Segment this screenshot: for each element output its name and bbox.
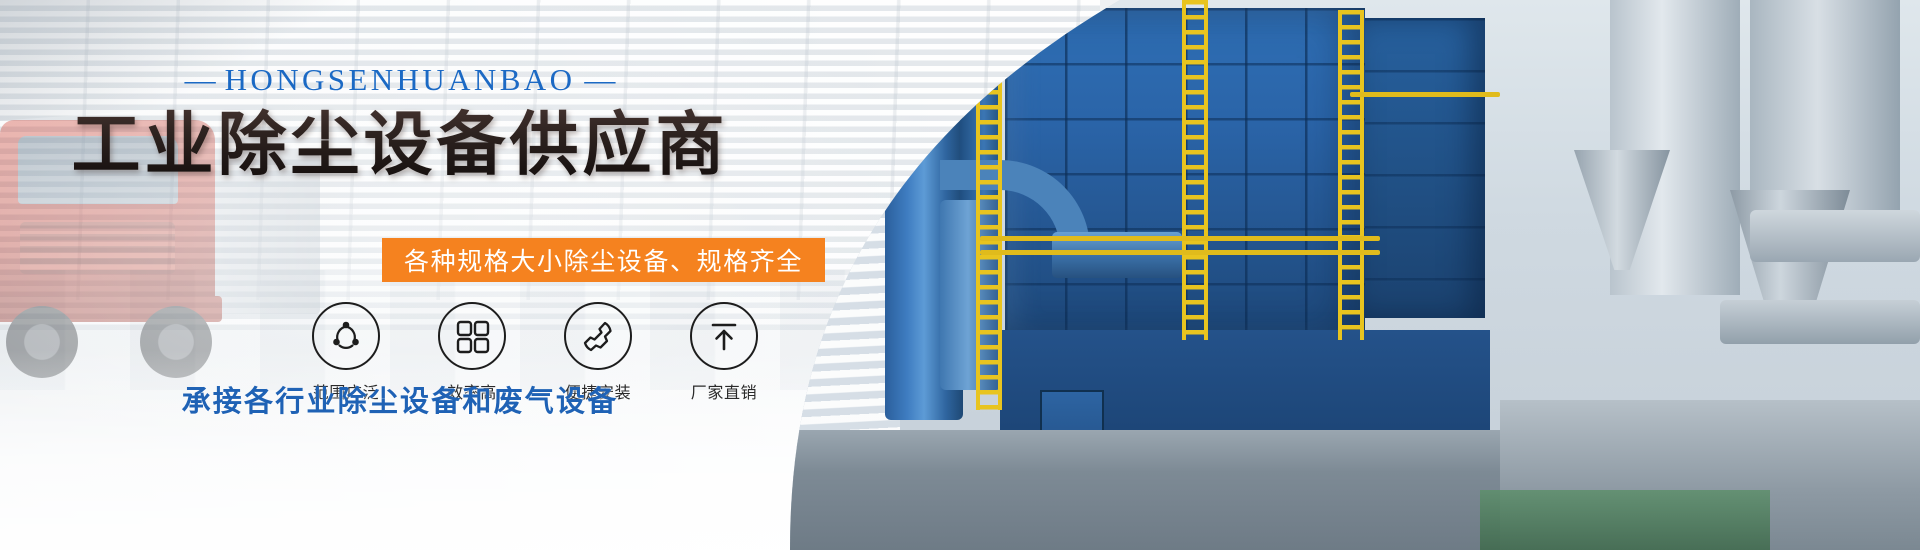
subtitle-text: 各种规格大小除尘设备、规格齐全: [404, 242, 803, 278]
brand-pinyin-eyebrow: —HONGSENHUANBAO—: [0, 62, 800, 98]
tagline: 承接各行业除尘设备和废气设备: [0, 378, 800, 420]
yellow-handrail-1: [980, 236, 1380, 241]
grey-duct-lower: [1720, 300, 1920, 344]
yellow-ladder-2: [1182, 0, 1208, 340]
brand-pinyin-text: HONGSENHUANBAO: [225, 62, 576, 97]
hero-banner: —HONGSENHUANBAO— 工业除尘设备供应商 各种规格大小除尘设备、规格…: [0, 0, 1920, 550]
yellow-ladder-3: [1338, 10, 1364, 340]
grid-squares-icon: [438, 302, 506, 370]
subtitle-orange-bar: 各种规格大小除尘设备、规格齐全: [382, 238, 825, 282]
wrench-icon: [564, 302, 632, 370]
network-nodes-icon: [312, 302, 380, 370]
grey-duct-upper: [1750, 210, 1920, 262]
yellow-handrail-2: [980, 250, 1380, 255]
up-arrow-icon: [690, 302, 758, 370]
green-hedge: [1480, 490, 1770, 550]
blue-baghouse-modules-secondary: [1365, 18, 1485, 318]
dash-right: —: [575, 62, 624, 97]
dash-left: —: [176, 62, 225, 97]
banner-content: —HONGSENHUANBAO— 工业除尘设备供应商 各种规格大小除尘设备、规格…: [0, 0, 860, 550]
page-title: 工业除尘设备供应商: [0, 104, 800, 186]
yellow-handrail-3: [1350, 92, 1500, 97]
